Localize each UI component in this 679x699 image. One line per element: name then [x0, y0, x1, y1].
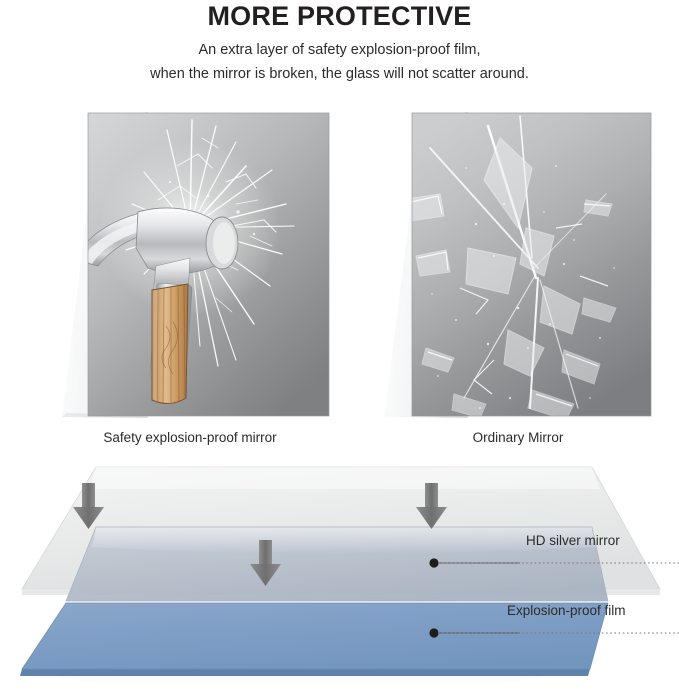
subtitle-line-1: An extra layer of safety explosion-proof… [0, 38, 679, 62]
cracked-mirror-illustration [40, 108, 340, 423]
layer-label-explosion-proof-film: Explosion-proof film [507, 603, 626, 618]
caption-right: Ordinary Mirror [368, 429, 668, 447]
page-title: MORE PROTECTIVE [0, 1, 679, 31]
layer-label-hd-silver-mirror: HD silver mirror [526, 533, 620, 548]
ordinary-mirror-illustration [368, 108, 668, 423]
layer-diagram: HD silver mirror Explosion-proof film [0, 455, 679, 699]
caption-left: Safety explosion-proof mirror [40, 429, 340, 447]
subtitle-line-2: when the mirror is broken, the glass wil… [0, 62, 679, 86]
comparison-panel-left: Safety explosion-proof mirror [40, 108, 340, 423]
comparison-panel-right: Ordinary Mirror [368, 108, 668, 423]
infographic-page: MORE PROTECTIVE An extra layer of safety… [0, 0, 679, 699]
